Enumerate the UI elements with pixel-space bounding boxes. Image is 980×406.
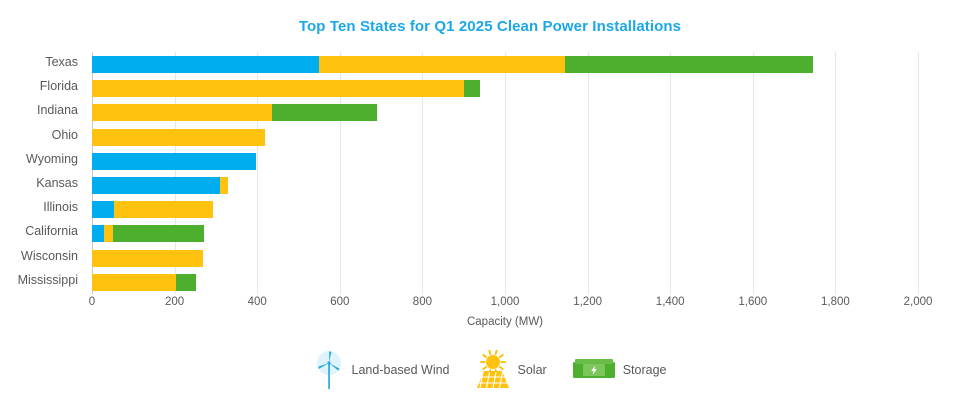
stacked-bar[interactable] bbox=[92, 129, 265, 146]
bar-segment-storage[interactable] bbox=[176, 274, 196, 291]
x-tick-label: 600 bbox=[330, 296, 349, 308]
bar-segment-solar[interactable] bbox=[92, 129, 265, 146]
stacked-bar[interactable] bbox=[92, 153, 256, 170]
bar-row: Kansas bbox=[0, 173, 980, 197]
legend-item[interactable]: Solar bbox=[476, 350, 547, 390]
bar-segment-storage[interactable] bbox=[272, 104, 377, 121]
y-axis-label-texas: Texas bbox=[45, 55, 78, 69]
bar-segment-wind[interactable] bbox=[92, 56, 319, 73]
bar-row: Mississippi bbox=[0, 270, 980, 294]
stacked-bar[interactable] bbox=[92, 80, 480, 97]
x-axis-ticks: 02004006008001,0001,2001,4001,6001,8002,… bbox=[0, 296, 980, 316]
wind-turbine-icon bbox=[314, 350, 344, 390]
bar-row: Florida bbox=[0, 76, 980, 100]
solar-panel-sun-icon bbox=[476, 350, 510, 390]
x-tick-label: 1,000 bbox=[491, 296, 520, 308]
bar-row: Illinois bbox=[0, 197, 980, 221]
x-axis-label: Capacity (MW) bbox=[92, 316, 918, 328]
bar-segment-wind[interactable] bbox=[92, 177, 220, 194]
bar-segment-solar[interactable] bbox=[92, 250, 203, 267]
y-axis-label-illinois: Illinois bbox=[43, 200, 78, 214]
y-axis-label-wyoming: Wyoming bbox=[26, 152, 78, 166]
bar-segment-solar[interactable] bbox=[92, 274, 176, 291]
bar-segment-storage[interactable] bbox=[113, 225, 204, 242]
x-tick-label: 1,800 bbox=[821, 296, 850, 308]
chart-title: Top Ten States for Q1 2025 Clean Power I… bbox=[0, 18, 980, 35]
legend-item[interactable]: Storage bbox=[573, 359, 667, 381]
legend-label: Land-based Wind bbox=[352, 363, 450, 377]
stacked-bar[interactable] bbox=[92, 274, 196, 291]
y-axis-label-mississippi: Mississippi bbox=[18, 273, 78, 287]
bar-segment-solar[interactable] bbox=[92, 104, 272, 121]
stacked-bar[interactable] bbox=[92, 201, 213, 218]
bar-row: California bbox=[0, 221, 980, 245]
y-axis-label-indiana: Indiana bbox=[37, 103, 78, 117]
bar-row: Wisconsin bbox=[0, 246, 980, 270]
battery-bolt-icon bbox=[573, 359, 615, 381]
stacked-bar[interactable] bbox=[92, 56, 813, 73]
bar-segment-wind[interactable] bbox=[92, 201, 114, 218]
bar-segment-solar[interactable] bbox=[319, 56, 565, 73]
y-axis-label-kansas: Kansas bbox=[36, 176, 78, 190]
bar-row: Texas bbox=[0, 52, 980, 76]
bar-segment-solar[interactable] bbox=[220, 177, 228, 194]
x-tick-label: 400 bbox=[248, 296, 267, 308]
x-tick-label: 2,000 bbox=[904, 296, 933, 308]
stacked-bar[interactable] bbox=[92, 177, 228, 194]
x-tick-label: 1,200 bbox=[573, 296, 602, 308]
bar-segment-storage[interactable] bbox=[565, 56, 813, 73]
y-axis-label-california: California bbox=[25, 224, 78, 238]
y-axis-label-wisconsin: Wisconsin bbox=[21, 249, 78, 263]
legend-item[interactable]: Land-based Wind bbox=[314, 350, 450, 390]
bar-segment-solar[interactable] bbox=[104, 225, 113, 242]
bar-segment-storage[interactable] bbox=[464, 80, 481, 97]
chart-plot-area: TexasFloridaIndianaOhioWyomingKansasIlli… bbox=[0, 52, 980, 302]
bar-row: Ohio bbox=[0, 125, 980, 149]
bar-segment-solar[interactable] bbox=[92, 80, 464, 97]
x-tick-label: 1,400 bbox=[656, 296, 685, 308]
x-tick-label: 0 bbox=[89, 296, 95, 308]
y-axis-label-florida: Florida bbox=[40, 79, 78, 93]
legend-label: Solar bbox=[518, 363, 547, 377]
stacked-bar[interactable] bbox=[92, 104, 377, 121]
legend-label: Storage bbox=[623, 363, 667, 377]
bar-rows: TexasFloridaIndianaOhioWyomingKansasIlli… bbox=[0, 52, 980, 294]
bar-segment-solar[interactable] bbox=[114, 201, 213, 218]
bar-row: Wyoming bbox=[0, 149, 980, 173]
bar-segment-wind[interactable] bbox=[92, 225, 104, 242]
x-tick-label: 1,600 bbox=[738, 296, 767, 308]
bar-segment-wind[interactable] bbox=[92, 153, 256, 170]
x-tick-label: 800 bbox=[413, 296, 432, 308]
stacked-bar[interactable] bbox=[92, 225, 204, 242]
y-axis-label-ohio: Ohio bbox=[52, 128, 78, 142]
bar-row: Indiana bbox=[0, 100, 980, 124]
chart-legend: Land-based WindSolarStorage bbox=[0, 350, 980, 390]
stacked-bar[interactable] bbox=[92, 250, 203, 267]
x-tick-label: 200 bbox=[165, 296, 184, 308]
